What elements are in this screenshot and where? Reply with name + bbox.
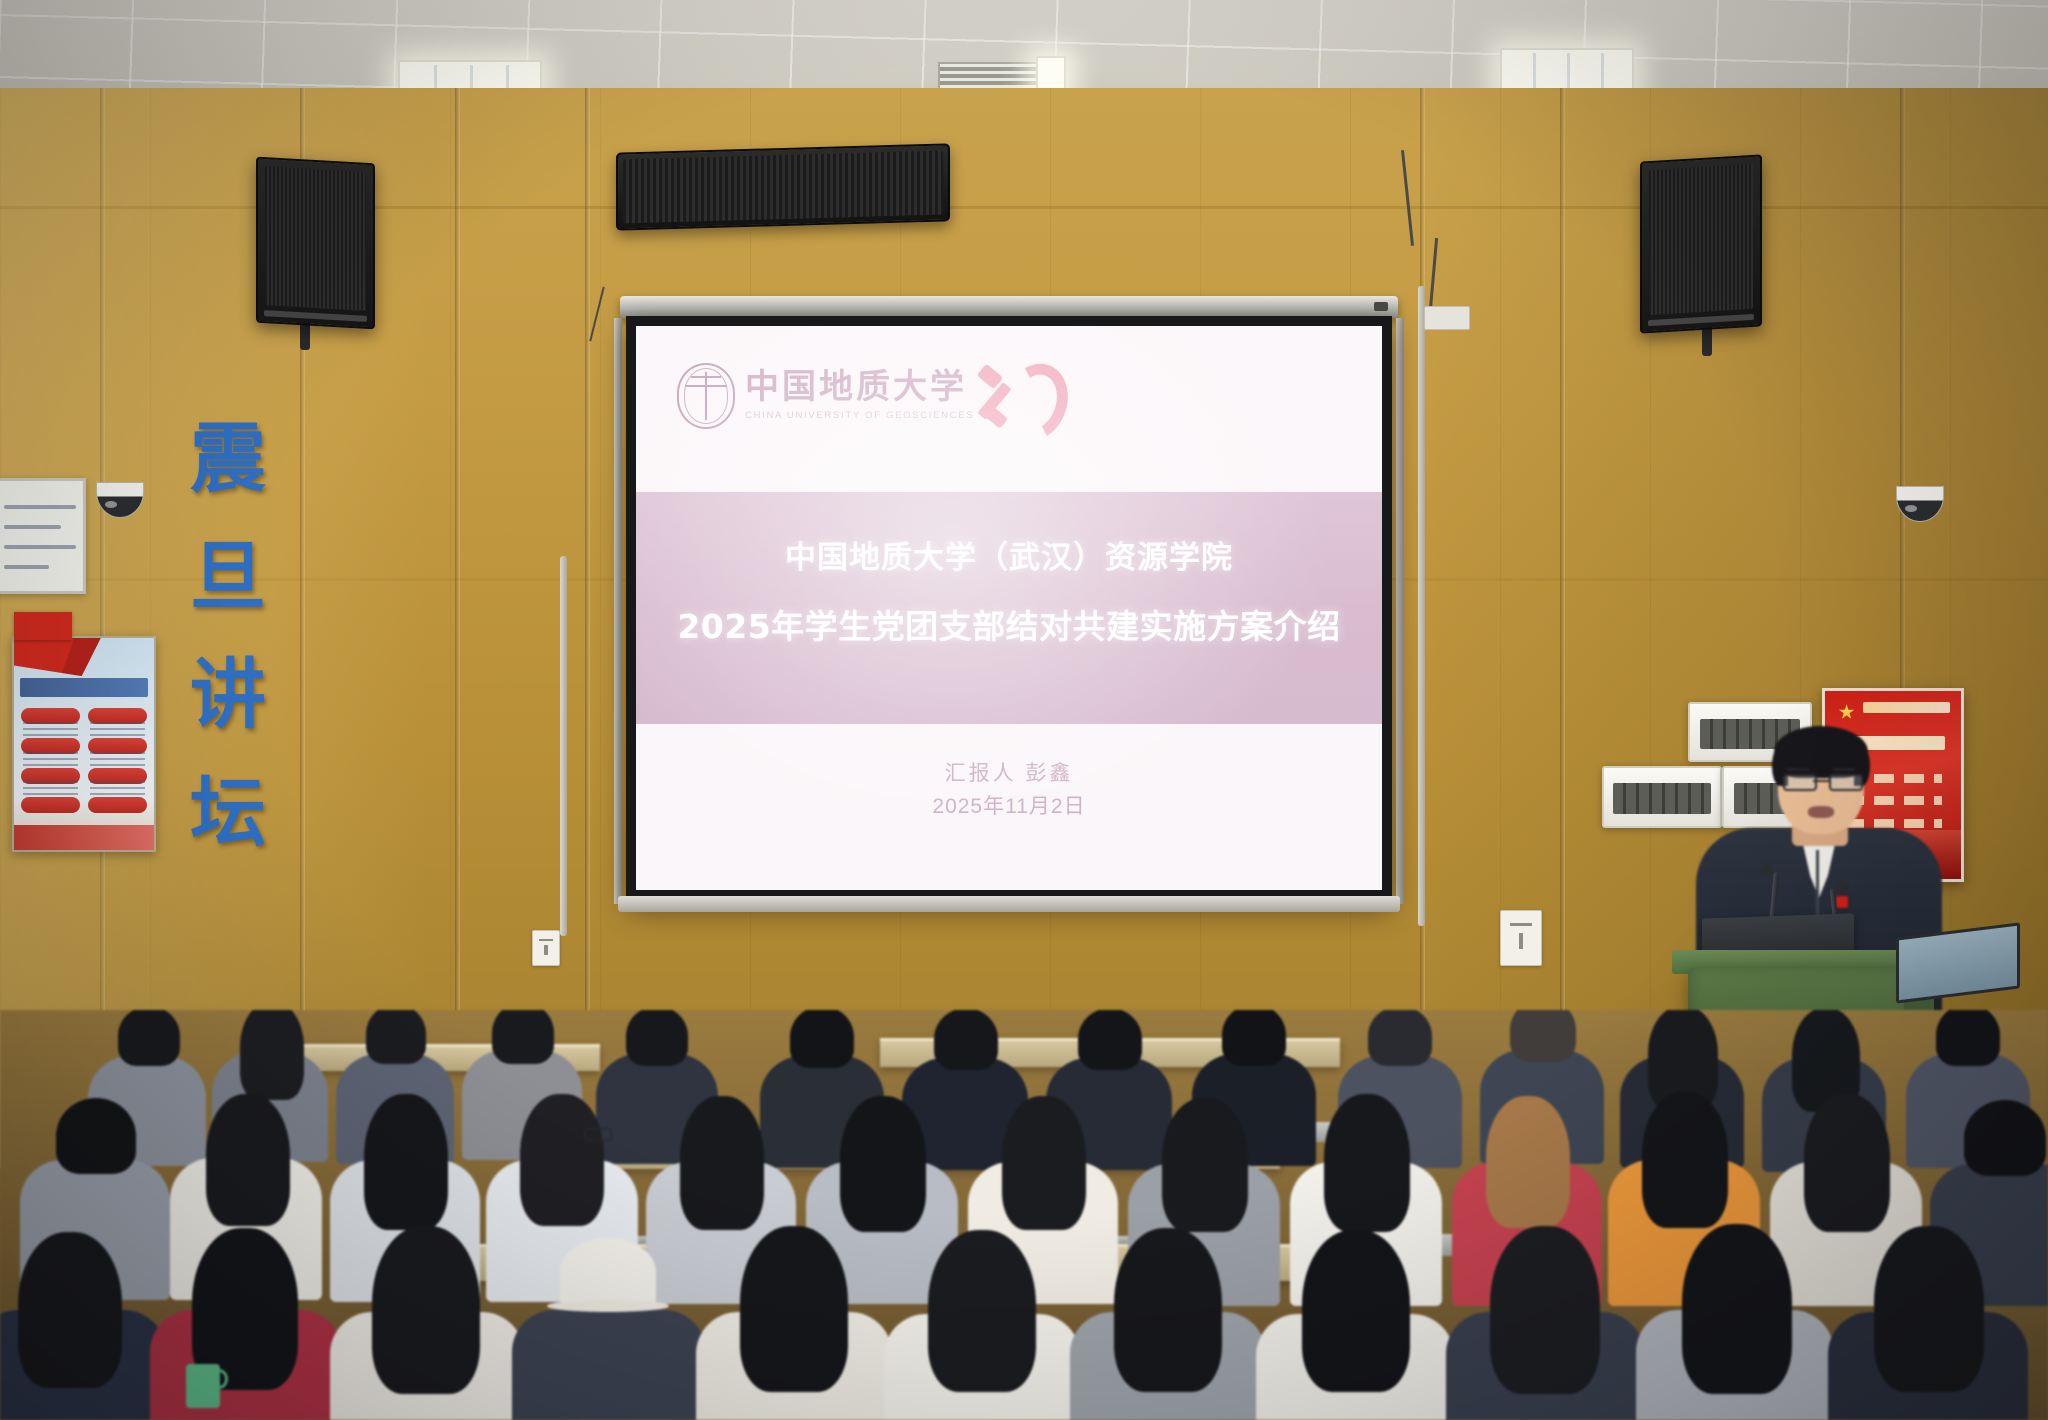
screen-right-edge: [1396, 318, 1404, 904]
audience-long-hair: [680, 1096, 764, 1230]
microphone-head-right: [1836, 880, 1849, 893]
lecture-hall-photo: 震 旦 讲 坛: [0, 0, 2048, 1420]
screen-housing: [620, 296, 1398, 318]
right-wall-speaker: [1640, 154, 1762, 333]
poster-title-bar: [20, 678, 149, 697]
poster-column-right: [88, 706, 147, 821]
wall-notice-frame: [0, 478, 86, 594]
university-logo: 中国地质大学 CHINA UNIVERSITY OF GEOSCIENCES: [677, 363, 974, 429]
presenter-glasses-right-lens: [1829, 774, 1863, 791]
calligraphy-char-2: 旦: [168, 518, 288, 636]
party-emblem-icon: [979, 361, 1051, 439]
audience-green-cup: [186, 1364, 220, 1408]
audience-hair: [626, 1010, 688, 1066]
audience-long-hair: [364, 1094, 448, 1230]
audience-hair: [934, 1010, 998, 1070]
audience-cap: [560, 1238, 656, 1306]
presenter-brow-left: [1787, 768, 1809, 771]
left-wall-poster: [12, 636, 156, 852]
audience-long-hair: [1162, 1098, 1248, 1232]
poster-footer-band: [14, 825, 154, 850]
audience-long-hair: [206, 1094, 290, 1226]
wall-socket-center: [1500, 910, 1542, 966]
wall-seam-3: [455, 88, 460, 1168]
poster-column-left: [21, 706, 80, 821]
presenter-lapel-pin: [1836, 896, 1848, 908]
audience-hair: [118, 1010, 180, 1066]
wall-calligraphy: 震 旦 讲 坛: [168, 400, 288, 872]
calligraphy-char-3: 讲: [168, 636, 288, 754]
wall-projector-bracket: [1424, 306, 1470, 330]
audience-long-hair: [840, 1096, 926, 1232]
slide-title: 中国地质大学（武汉）资源学院: [636, 532, 1382, 577]
screen-left-edge: [614, 318, 622, 904]
wall-socket-left: [532, 930, 560, 966]
presenter-mouth: [1808, 806, 1834, 818]
ceiling-bar-speaker: [616, 143, 950, 230]
audience-long-hair: [740, 1226, 848, 1392]
poster-flag-graphic: [14, 638, 101, 676]
slide-date: 2025年11月2日: [636, 790, 1382, 820]
presenter-brow-right: [1833, 768, 1855, 771]
calligraphy-char-4: 坛: [168, 754, 288, 872]
wall-conduit-left: [560, 556, 567, 936]
projection-screen: 中国地质大学 CHINA UNIVERSITY OF GEOSCIENCES 中…: [626, 316, 1392, 900]
audience-hair: [1936, 1010, 2000, 1066]
audience-hair: [1964, 1100, 2046, 1176]
calligraphy-char-1: 震: [168, 400, 288, 518]
audience-long-hair: [1114, 1228, 1222, 1392]
audience-hair: [1368, 1010, 1432, 1066]
audience-long-hair: [1002, 1096, 1086, 1230]
presenter-glasses-left-lens: [1783, 774, 1817, 791]
logo-english-name: CHINA UNIVERSITY OF GEOSCIENCES: [745, 410, 974, 421]
audience-hair: [366, 1010, 426, 1064]
audience-long-hair: [372, 1226, 480, 1394]
presenter-glasses-bridge: [1813, 780, 1829, 782]
cug-logo-icon: [677, 363, 735, 429]
audience-long-hair: [18, 1232, 122, 1388]
audience: [0, 1010, 2048, 1420]
audience-long-hair: [928, 1230, 1036, 1392]
audience-hair: [56, 1098, 136, 1174]
audience-long-hair: [1324, 1094, 1410, 1232]
wall-conduit-right: [1418, 286, 1425, 926]
audience-long-hair: [1874, 1226, 1984, 1392]
microphone-head-left: [1760, 864, 1773, 877]
audience-long-hair: [1682, 1224, 1792, 1394]
audience-hair: [1078, 1010, 1142, 1070]
wall-seam-4: [585, 88, 590, 1168]
audience-long-hair: [240, 1010, 304, 1100]
slide-presenter: 汇报人 彭鑫: [636, 757, 1382, 787]
audience-long-hair: [1804, 1094, 1890, 1232]
audience-long-hair: [1486, 1096, 1570, 1228]
audience-long-hair: [1490, 1226, 1600, 1394]
audience-hair: [492, 1010, 554, 1064]
audience-torso: [512, 1310, 706, 1420]
audience-hair: [1510, 1010, 1576, 1062]
left-wall-speaker: [256, 157, 375, 330]
slide-subtitle: 2025年学生党团支部结对共建实施方案介绍: [636, 600, 1382, 648]
audience-long-hair: [520, 1094, 604, 1226]
logo-chinese-name: 中国地质大学: [745, 370, 974, 406]
small-flag-sticker: [14, 612, 72, 640]
audience-long-hair: [1642, 1092, 1728, 1228]
audience-glasses: [584, 1128, 612, 1141]
audience-hair: [1222, 1010, 1286, 1066]
presentation-slide: 中国地质大学 CHINA UNIVERSITY OF GEOSCIENCES 中…: [636, 326, 1382, 890]
screen-bottom-weight-bar: [618, 896, 1400, 912]
audience-long-hair: [1302, 1230, 1410, 1392]
audience-hair: [790, 1010, 854, 1068]
